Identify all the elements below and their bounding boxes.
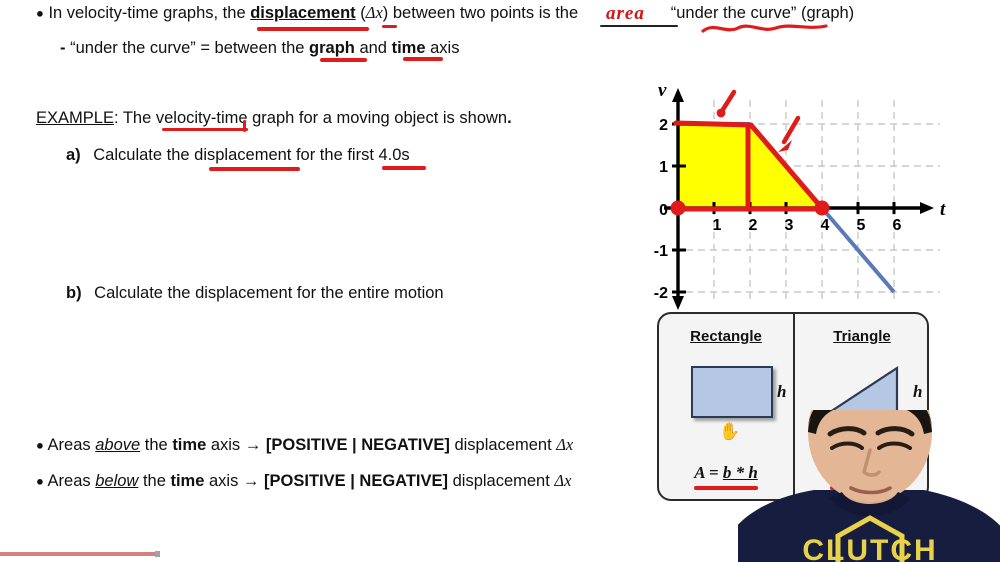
- svg-text:4: 4: [821, 217, 830, 234]
- bb1-delta-x: Δx: [556, 435, 573, 454]
- part-a: a) Calculate the displacement for the fi…: [66, 145, 410, 166]
- bullet-icon: ●: [36, 438, 44, 453]
- rectangle-title: Rectangle: [659, 328, 793, 345]
- keyword-time: time: [392, 39, 426, 57]
- bb2-bracket-choice: [POSITIVE | NEGATIVE]: [264, 472, 448, 490]
- bb2-delta-x: Δx: [554, 471, 571, 490]
- bb2-post: displacement: [448, 472, 554, 490]
- bb1-emphasis-above: above: [95, 436, 140, 454]
- answer-blank-line: [600, 25, 678, 27]
- webcam-overlay: CLUTCH: [738, 410, 1000, 562]
- bb2-mid1: the: [138, 472, 170, 490]
- bullet-1-mid2: ) between two points is the: [383, 4, 583, 22]
- data-point-marker-4s: [815, 201, 830, 216]
- red-tick-velocity-time: [243, 120, 246, 132]
- bb1-pre: Areas: [48, 436, 96, 454]
- example-text: The velocity-time graph for a moving obj…: [119, 109, 508, 127]
- part-b-marker: b): [66, 284, 82, 302]
- svg-text:1: 1: [659, 159, 668, 176]
- red-underline-displacement: [257, 27, 369, 31]
- keyword-graph: graph: [309, 39, 355, 57]
- sub-bullet-1: - “under the curve” = between the graph …: [60, 38, 459, 59]
- triangle-title: Triangle: [795, 328, 929, 345]
- bottom-bullet-2: ● Areas below the time axis → [POSITIVE …: [36, 471, 571, 492]
- triangle-height-label: h: [913, 382, 922, 402]
- red-mark-delta-x: [382, 25, 397, 28]
- bb1-keyword-time: time: [172, 436, 206, 454]
- red-underline-velocity-time: [162, 128, 248, 131]
- part-a-text: Calculate the displacement for the first…: [93, 146, 409, 164]
- bb1-mid2: axis: [206, 436, 245, 454]
- data-point-marker-origin: [671, 201, 686, 216]
- bullet-icon: ●: [36, 6, 44, 21]
- bb2-emphasis-below: below: [95, 472, 138, 490]
- handwritten-answer-area: area: [606, 3, 645, 25]
- red-underline-part-a-time: [382, 166, 426, 170]
- red-underline-graph: [320, 58, 367, 62]
- example-label: EXAMPLE: [36, 109, 114, 127]
- hand-cursor-icon: ✋: [719, 422, 740, 442]
- bullet-1-mid1: (: [356, 4, 366, 22]
- svg-text:-1: -1: [654, 243, 668, 260]
- svg-text:3: 3: [785, 217, 794, 234]
- clutch-logo-text: CLUTCH: [802, 534, 937, 562]
- svg-text:1: 1: [713, 217, 722, 234]
- rectangle-height-label: h: [777, 382, 786, 402]
- bullet-icon: ●: [36, 474, 44, 489]
- bb2-keyword-time: time: [170, 472, 204, 490]
- progress-bar-handle[interactable]: [155, 551, 160, 557]
- bb2-mid2: axis: [204, 472, 243, 490]
- slide-canvas: ● In velocity-time graphs, the displacem…: [0, 0, 1000, 562]
- svg-text:2: 2: [659, 117, 668, 134]
- delta-x-symbol: Δx: [366, 3, 383, 22]
- svg-text:6: 6: [893, 217, 902, 234]
- part-b: b) Calculate the displacement for the en…: [66, 283, 444, 304]
- svg-text:-2: -2: [654, 285, 668, 302]
- v-axis-arrowhead-down: [672, 296, 684, 310]
- red-underline-time: [403, 57, 443, 61]
- y-tick-labels: 2 1 0 -1 -2: [654, 117, 668, 302]
- keyword-displacement: displacement: [250, 4, 355, 22]
- bb1-mid1: the: [140, 436, 172, 454]
- rectangle-formula-lhs: A =: [694, 463, 723, 482]
- t-axis-arrowhead: [920, 202, 934, 214]
- svg-text:2: 2: [749, 217, 758, 234]
- bb1-bracket-choice: [POSITIVE | NEGATIVE]: [266, 436, 450, 454]
- example-period: .: [507, 109, 512, 127]
- x-axis-label: t: [940, 199, 946, 220]
- part-a-marker: a): [66, 146, 81, 164]
- red-underline-part-a-displacement: [209, 167, 300, 171]
- bb1-post: displacement: [450, 436, 556, 454]
- bb2-pre: Areas: [48, 472, 96, 490]
- dash-icon: -: [60, 39, 66, 57]
- x-tick-labels: 1 2 3 4 5 6: [713, 217, 902, 234]
- velocity-time-graph: v t 2 1 0 -1 -2 1 2 3 4 5 6: [650, 78, 950, 310]
- bottom-bullet-1: ● Areas above the time axis → [POSITIVE …: [36, 435, 573, 456]
- bb2-arrow-icon: →: [243, 472, 260, 490]
- example-line: EXAMPLE: The velocity-time graph for a m…: [36, 108, 512, 129]
- sub-bullet-mid: and: [355, 39, 392, 57]
- progress-bar[interactable]: [0, 552, 158, 556]
- part-b-text: Calculate the displacement for the entir…: [94, 284, 443, 302]
- v-axis-arrowhead: [672, 88, 684, 102]
- sub-bullet-post: axis: [426, 39, 460, 57]
- svg-text:5: 5: [857, 217, 866, 234]
- triangle-shape: [823, 364, 903, 416]
- sub-bullet-pre: “under the curve” = between the: [70, 39, 309, 57]
- annotation-arrow-rectangle: [722, 92, 734, 111]
- annotation-arrow-rectangle-head: [717, 109, 726, 118]
- bullet-1-pre: In velocity-time graphs, the: [48, 4, 250, 22]
- red-squiggle-under-the-curve: [700, 20, 830, 36]
- y-axis-label: v: [658, 80, 667, 101]
- bb1-arrow-icon: →: [245, 436, 262, 454]
- svg-text:0: 0: [659, 202, 668, 219]
